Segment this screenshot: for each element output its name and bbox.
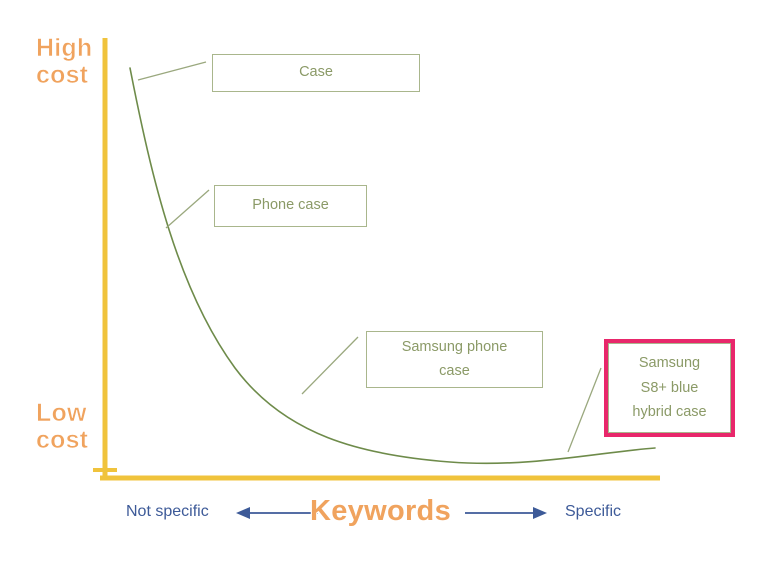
callout-box-phone-case: Phone case <box>214 185 367 227</box>
arrow-right-icon <box>465 507 547 519</box>
leader-line-case <box>138 62 206 80</box>
x-axis-title: Keywords <box>310 495 451 528</box>
x-axis-right-label: Specific <box>565 503 621 521</box>
leader-line-samsung-phone-case <box>302 337 358 394</box>
leader-line-phone-case <box>166 190 209 228</box>
y-axis-high-cost-label: High cost <box>36 35 92 88</box>
callout-box-samsung-phone-case: Samsung phone case <box>366 331 543 388</box>
callout-label-samsung-s8: Samsung S8+ blue hybrid case <box>632 351 706 426</box>
callout-label-case: Case <box>299 61 333 85</box>
cost-curve <box>130 68 655 463</box>
callout-label-samsung-phone-case: Samsung phone case <box>402 336 508 384</box>
chart-canvas: High cost Low cost Keywords Not specific… <box>0 0 769 571</box>
callout-box-samsung-s8-highlighted: Samsung S8+ blue hybrid case <box>604 339 735 437</box>
callout-label-phone-case: Phone case <box>252 194 329 218</box>
leader-line-samsung-s8 <box>568 368 601 452</box>
y-axis-low-cost-label: Low cost <box>36 400 88 453</box>
callout-inner-samsung-s8: Samsung S8+ blue hybrid case <box>608 343 731 433</box>
callout-box-case: Case <box>212 54 420 92</box>
arrow-left-icon <box>236 507 318 519</box>
x-axis-left-label: Not specific <box>126 503 209 521</box>
